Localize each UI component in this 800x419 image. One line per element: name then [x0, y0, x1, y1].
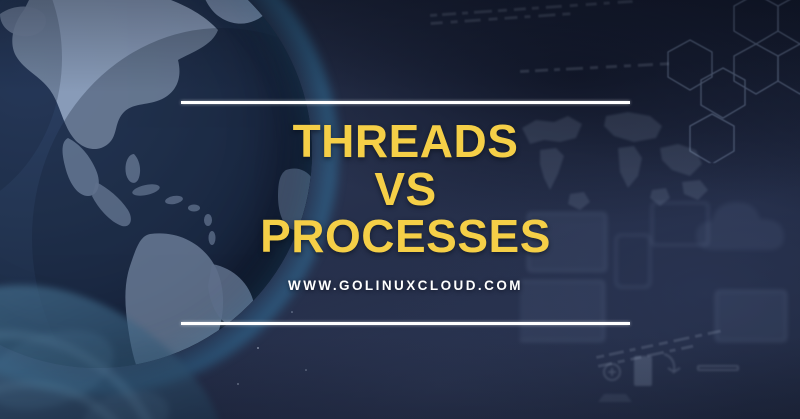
- page-title: THREADS VS PROCESSES: [260, 118, 551, 260]
- headline-line-1: THREADS: [260, 118, 551, 165]
- banner-root: THREADS VS PROCESSES WWW.GOLINUXCLOUD.CO…: [0, 0, 800, 419]
- horizontal-rule-bottom: [181, 322, 630, 325]
- headline-line-3: PROCESSES: [260, 213, 551, 260]
- cloud-computing-glyph: [688, 188, 798, 268]
- headline-line-2: VS: [260, 166, 551, 213]
- banner-content: THREADS VS PROCESSES WWW.GOLINUXCLOUD.CO…: [181, 0, 630, 419]
- site-url-text: WWW.GOLINUXCLOUD.COM: [288, 278, 523, 293]
- horizontal-rule-top: [181, 101, 630, 104]
- hexagon-network-pattern: [660, 0, 800, 163]
